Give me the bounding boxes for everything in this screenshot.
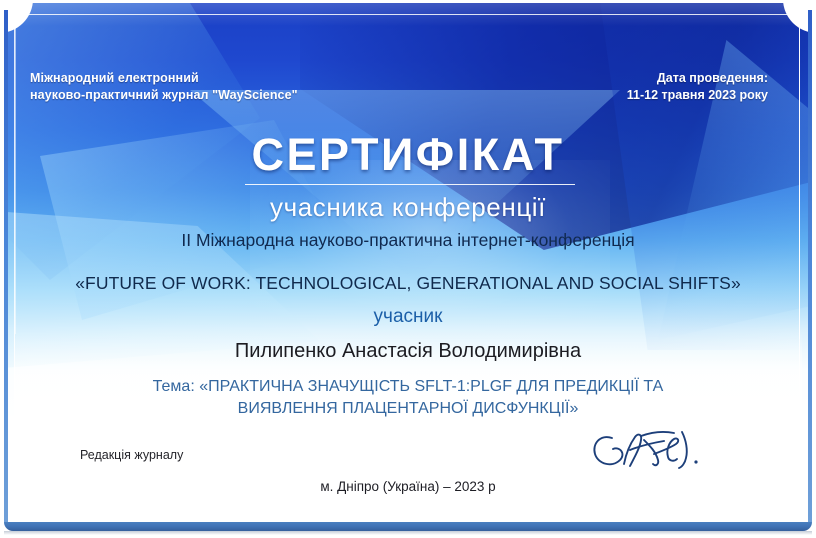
event-date-block: Дата проведення: 11-12 травня 2023 року bbox=[627, 70, 768, 104]
event-date-value: 11-12 травня 2023 року bbox=[627, 87, 768, 104]
certificate-title: СЕРТИФІКАТ bbox=[0, 129, 816, 181]
editorial-board-label: Редакція журналу bbox=[80, 448, 183, 462]
journal-imprint: Міжнародний електронний науково-практичн… bbox=[30, 70, 298, 104]
paper-topic-line-1: Тема: «ПРАКТИЧНА ЗНАЧУЩІСТЬ SFLT-1:PLGF … bbox=[0, 376, 816, 398]
journal-line-1: Міжнародний електронний bbox=[30, 70, 298, 87]
certificate-content: Міжнародний електронний науково-практичн… bbox=[0, 0, 816, 538]
journal-line-2: науково-практичний журнал "WayScience" bbox=[30, 87, 298, 104]
paper-topic-line-2: ВИЯВЛЕННЯ ПЛАЦЕНТАРНОЇ ДИСФУНКЦІЇ» bbox=[0, 398, 816, 420]
conference-name: ІІ Міжнародна науково-практична інтернет… bbox=[0, 230, 816, 251]
participant-role-label: учасник bbox=[0, 306, 816, 328]
participant-name: Пилипенко Анастасія Володимирівна bbox=[0, 340, 816, 363]
certificate-document: Міжнародний електронний науково-практичн… bbox=[0, 0, 816, 538]
event-date-label: Дата проведення: bbox=[627, 70, 768, 87]
certificate-subtitle: учасника конференції bbox=[0, 192, 816, 223]
place-and-year: м. Дніпро (Україна) – 2023 р bbox=[0, 479, 816, 494]
title-divider-rule bbox=[245, 184, 575, 185]
paper-topic: Тема: «ПРАКТИЧНА ЗНАЧУЩІСТЬ SFLT-1:PLGF … bbox=[0, 376, 816, 420]
conference-theme: «FUTURE OF WORK: TECHNOLOGICAL, GENERATI… bbox=[0, 273, 816, 294]
signature-icon bbox=[586, 424, 716, 476]
